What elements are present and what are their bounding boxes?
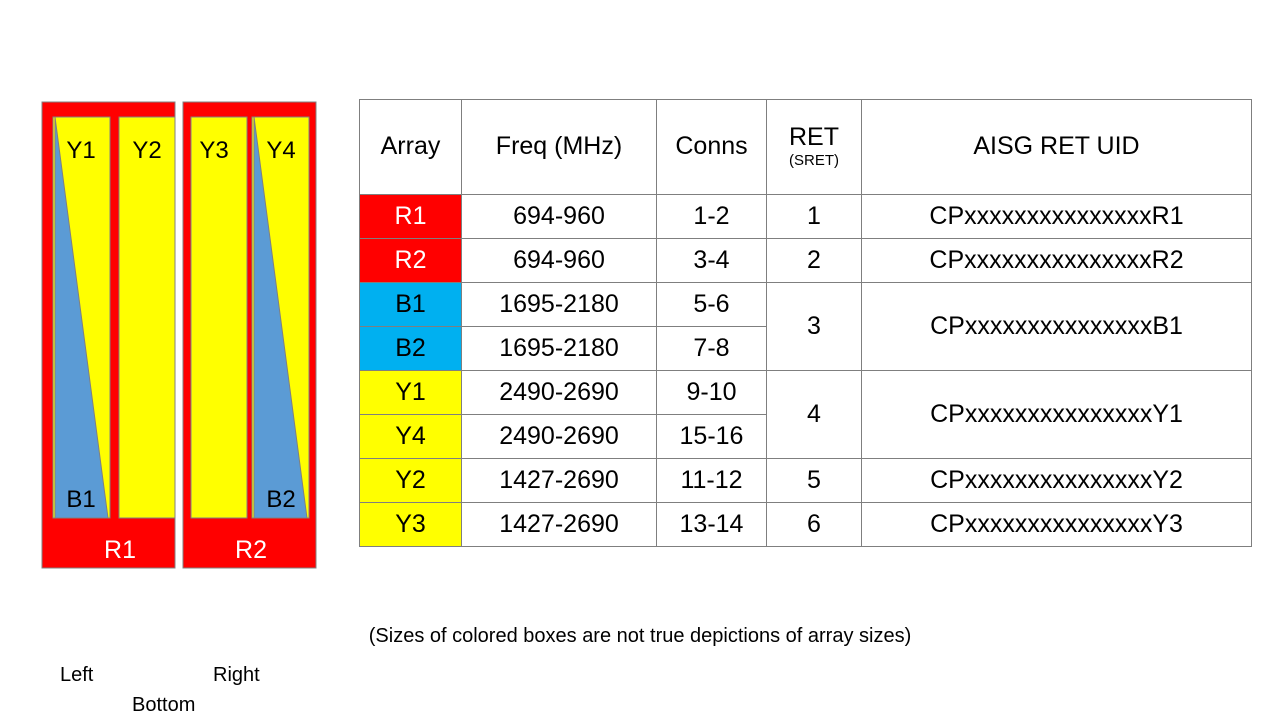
table-row: Y21427-269011-125CPxxxxxxxxxxxxxxxY2 (360, 459, 1252, 503)
cell-freq: 694-960 (462, 239, 657, 283)
cell-ret: 5 (767, 459, 862, 503)
cell-array: B2 (360, 327, 462, 371)
cell-uid: CPxxxxxxxxxxxxxxxR1 (862, 195, 1252, 239)
panel-r1-array-y2-label: Y2 (132, 137, 161, 164)
panel-r2-array-y3-yellow (191, 117, 247, 518)
cell-ret: 1 (767, 195, 862, 239)
cell-freq: 1427-2690 (462, 503, 657, 547)
table-row: B11695-21805-63CPxxxxxxxxxxxxxxxB1 (360, 283, 1252, 327)
orientation-label-right: Right (213, 664, 260, 687)
table-row: R2694-9603-42CPxxxxxxxxxxxxxxxR2 (360, 239, 1252, 283)
panel-r1-array-y1-label: Y1 (66, 137, 95, 164)
ret-table: Array Freq (MHz) Conns RET (SRET) AISG R… (359, 99, 1252, 547)
antenna-panel-r2: Y3 Y4 B2 R2 (183, 102, 316, 568)
antenna-panel-diagram: Y1 B1 Y2 R1 Y3 Y4 B2 R2 (0, 0, 350, 600)
cell-ret: 3 (767, 283, 862, 371)
cell-freq: 1695-2180 (462, 327, 657, 371)
cell-conns: 15-16 (657, 415, 767, 459)
cell-uid: CPxxxxxxxxxxxxxxxY3 (862, 503, 1252, 547)
cell-conns: 1-2 (657, 195, 767, 239)
table-row: R1694-9601-21CPxxxxxxxxxxxxxxxR1 (360, 195, 1252, 239)
column-header-array: Array (360, 100, 462, 195)
cell-conns: 5-6 (657, 283, 767, 327)
orientation-label-bottom: Bottom (132, 694, 195, 717)
cell-conns: 3-4 (657, 239, 767, 283)
panel-r1-array-y2-yellow (119, 117, 175, 518)
cell-conns: 9-10 (657, 371, 767, 415)
column-header-ret-main: RET (789, 123, 839, 151)
table-header-row: Array Freq (MHz) Conns RET (SRET) AISG R… (360, 100, 1252, 195)
cell-uid: CPxxxxxxxxxxxxxxxR2 (862, 239, 1252, 283)
cell-uid: CPxxxxxxxxxxxxxxxB1 (862, 283, 1252, 371)
orientation-label-left: Left (60, 664, 93, 687)
ret-table-header: Array Freq (MHz) Conns RET (SRET) AISG R… (360, 100, 1252, 195)
panel-r1-array-b1-label: B1 (66, 486, 95, 513)
cell-freq: 1427-2690 (462, 459, 657, 503)
cell-array: R2 (360, 239, 462, 283)
table-row: Y12490-26909-104CPxxxxxxxxxxxxxxxY1 (360, 371, 1252, 415)
column-header-conns: Conns (657, 100, 767, 195)
cell-freq: 694-960 (462, 195, 657, 239)
panel-r2-array-y4-label: Y4 (266, 137, 295, 164)
cell-uid: CPxxxxxxxxxxxxxxxY2 (862, 459, 1252, 503)
cell-array: Y1 (360, 371, 462, 415)
cell-freq: 1695-2180 (462, 283, 657, 327)
column-header-uid: AISG RET UID (862, 100, 1252, 195)
cell-conns: 7-8 (657, 327, 767, 371)
cell-freq: 2490-2690 (462, 415, 657, 459)
cell-conns: 13-14 (657, 503, 767, 547)
cell-uid: CPxxxxxxxxxxxxxxxY1 (862, 371, 1252, 459)
cell-freq: 2490-2690 (462, 371, 657, 415)
panel-r1-label: R1 (104, 536, 136, 564)
panel-r2-array-y3-label: Y3 (199, 137, 228, 164)
antenna-panel-r1: Y1 B1 Y2 R1 (42, 102, 175, 568)
column-header-ret: RET (SRET) (767, 100, 862, 195)
cell-ret: 4 (767, 371, 862, 459)
panel-r2-array-b2-label: B2 (266, 486, 295, 513)
column-header-ret-sub: (SRET) (767, 152, 861, 170)
cell-ret: 2 (767, 239, 862, 283)
column-header-freq: Freq (MHz) (462, 100, 657, 195)
cell-array: B1 (360, 283, 462, 327)
diagram-footnote: (Sizes of colored boxes are not true dep… (0, 625, 1280, 648)
panel-r2-label: R2 (235, 536, 267, 564)
cell-array: Y4 (360, 415, 462, 459)
ret-table-body: R1694-9601-21CPxxxxxxxxxxxxxxxR1R2694-96… (360, 195, 1252, 547)
cell-ret: 6 (767, 503, 862, 547)
cell-conns: 11-12 (657, 459, 767, 503)
cell-array: Y3 (360, 503, 462, 547)
ret-table-container: Array Freq (MHz) Conns RET (SRET) AISG R… (359, 99, 1251, 547)
cell-array: Y2 (360, 459, 462, 503)
cell-array: R1 (360, 195, 462, 239)
table-row: Y31427-269013-146CPxxxxxxxxxxxxxxxY3 (360, 503, 1252, 547)
